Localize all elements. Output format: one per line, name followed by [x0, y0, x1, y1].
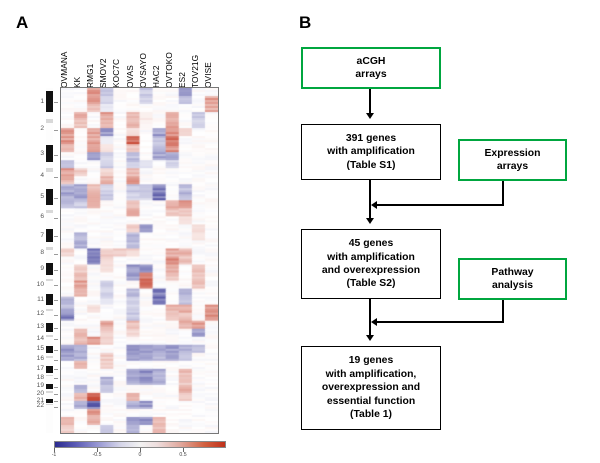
- chromosome-band-chr2: [46, 119, 53, 123]
- chromosome-band-chr12: [46, 309, 53, 311]
- chromosome-band-chr15: [46, 346, 53, 354]
- heatmap-row-tick-chr1: [54, 102, 58, 103]
- chromosome-band-chr20: [46, 391, 53, 392]
- heatmap-row-labels: 12345678910111213141516171819202122: [22, 88, 44, 433]
- heatmap-column-label-ovmana: OVMANA: [59, 51, 69, 88]
- heatmap-row-label-chr8: 8: [40, 250, 44, 257]
- heatmap-row-tick-chr11: [54, 300, 58, 301]
- colorbar-tick-label-3: 0.5: [179, 452, 186, 458]
- arrowhead-expression-into-spine: [371, 201, 377, 209]
- heatmap-column-labels: OVMANAKKRMG1SMOV2KOC7COVASOVSAYOHAC2OVTO…: [61, 24, 219, 88]
- chromosome-band-chr6: [46, 210, 53, 213]
- flow-node-pathway-analysis: Pathwayanalysis: [458, 258, 567, 300]
- arrowhead-pathway-into-spine: [371, 318, 377, 326]
- heatmap-column-label-ovise: OVISE: [203, 62, 213, 88]
- heatmap-column-label-rmg1: RMG1: [85, 64, 95, 88]
- heatmap-row-tick-chr17: [54, 369, 58, 370]
- chromosome-band-chr3: [46, 145, 53, 162]
- heatmap-row-label-chr4: 4: [40, 173, 44, 180]
- heatmap-row-label-chr22: 22: [37, 403, 44, 410]
- flow-node-acgh-arrays-label: aCGHarrays: [355, 55, 386, 82]
- heatmap-row-tick-chr12: [54, 315, 58, 316]
- chromosome-band-chr14: [46, 335, 53, 337]
- colorbar-tick-label-0: -1: [52, 452, 57, 458]
- chromosome-band-chr17: [46, 366, 53, 373]
- heatmap-row-tick-chr19: [54, 387, 58, 388]
- flow-node-expression-arrays-label: Expressionarrays: [484, 147, 540, 174]
- connector-acgh-to-391: [369, 89, 371, 115]
- heatmap-row-tick-chr13: [54, 328, 58, 329]
- heatmap-row-ticks: [54, 88, 59, 433]
- heatmap-row-tick-chr22: [54, 407, 58, 408]
- heatmap-row-tick-chr2: [54, 130, 58, 131]
- connector-pathway-down: [502, 300, 504, 322]
- heatmap-row-tick-chr7: [54, 236, 58, 237]
- panel-label-b: B: [299, 14, 311, 31]
- arrowhead-45-to-19: [366, 335, 374, 341]
- chromosome-band-chr5: [46, 189, 53, 204]
- connector-45-to-19: [369, 299, 371, 337]
- connector-391-to-45: [369, 180, 371, 220]
- flow-node-19-genes-label: 19 geneswith amplification,overexpressio…: [322, 354, 420, 421]
- chromosome-band-chr19: [46, 384, 53, 390]
- flow-node-19-genes: 19 geneswith amplification,overexpressio…: [301, 346, 441, 430]
- heatmap-colorbar: -1-0.500.5: [54, 441, 226, 461]
- heatmap-row-label-chr15: 15: [37, 346, 44, 353]
- flow-node-391-genes-label: 391 geneswith amplification(Table S1): [327, 132, 415, 172]
- chromosome-band-chr9: [46, 263, 53, 274]
- connector-expression-left: [377, 204, 504, 206]
- heatmap-row-label-chr2: 2: [40, 126, 44, 133]
- chromosome-band-chr10: [46, 279, 53, 281]
- colorbar-gradient: [54, 441, 226, 448]
- flow-node-expression-arrays: Expressionarrays: [458, 139, 567, 181]
- heatmap-column-label-ovas: OVAS: [125, 65, 135, 88]
- heatmap-row-label-chr16: 16: [37, 356, 44, 363]
- panel-label-a: A: [16, 14, 28, 31]
- chromosome-band-chr21: [46, 399, 53, 403]
- heatmap-row-tick-chr6: [54, 218, 58, 219]
- heatmap-column-label-ovsayo: OVSAYO: [138, 53, 148, 88]
- heatmap-column-label-ovtoko: OVTOKO: [164, 52, 174, 88]
- heatmap-row-tick-chr5: [54, 198, 58, 199]
- heatmap-row-tick-chr15: [54, 350, 58, 351]
- panel-a-heatmap: A OVMANAKKRMG1SMOV2KOC7COVASOVSAYOHAC2OV…: [0, 0, 290, 463]
- heatmap-row-tick-chr10: [54, 285, 58, 286]
- heatmap-row-label-chr13: 13: [37, 324, 44, 331]
- connector-pathway-left: [377, 321, 504, 323]
- heatmap-canvas: [61, 88, 218, 433]
- heatmap-row-label-chr9: 9: [40, 266, 44, 273]
- flow-node-acgh-arrays: aCGHarrays: [301, 47, 441, 89]
- heatmap-row-label-chr10: 10: [37, 282, 44, 289]
- heatmap-row-label-chr18: 18: [37, 375, 44, 382]
- flow-node-391-genes: 391 geneswith amplification(Table S1): [301, 124, 441, 180]
- colorbar-tick-label-1: -0.5: [93, 452, 102, 458]
- connector-expression-down: [502, 181, 504, 205]
- chromosome-band-chr4: [46, 168, 53, 171]
- chromosome-band-chr22: [46, 404, 53, 405]
- heatmap-column-label-tov21g: TOV21G: [190, 55, 200, 88]
- flow-node-pathway-analysis-label: Pathwayanalysis: [491, 266, 533, 293]
- heatmap-row-tick-chr3: [54, 155, 58, 156]
- heatmap-plot-area: [60, 87, 219, 434]
- heatmap-row-label-chr17: 17: [37, 366, 44, 373]
- heatmap-column-label-es2: ES2: [177, 72, 187, 88]
- heatmap-row-tick-chr20: [54, 394, 58, 395]
- heatmap-row-label-chr6: 6: [40, 214, 44, 221]
- heatmap-row-tick-chr4: [54, 177, 58, 178]
- flow-node-45-genes: 45 geneswith amplificationand overexpres…: [301, 229, 441, 299]
- heatmap-row-tick-chr14: [54, 339, 58, 340]
- flow-node-45-genes-label: 45 geneswith amplificationand overexpres…: [322, 237, 420, 291]
- chromosome-band-chr16: [46, 356, 53, 358]
- chromosome-band-chr13: [46, 323, 53, 332]
- chromosome-band-chr11: [46, 294, 53, 305]
- heatmap-column-label-hac2: HAC2: [151, 65, 161, 88]
- chromosome-band-chr7: [46, 229, 53, 242]
- heatmap-column-label-smov2: SMOV2: [98, 58, 108, 88]
- heatmap-row-label-chr14: 14: [37, 336, 44, 343]
- heatmap-row-tick-chr18: [54, 378, 58, 379]
- heatmap-row-tick-chr9: [54, 270, 58, 271]
- heatmap-row-label-chr19: 19: [37, 383, 44, 390]
- heatmap-row-tick-chr21: [54, 401, 58, 402]
- heatmap-row-tick-chr16: [54, 360, 58, 361]
- chromosome-band-chr1: [46, 91, 53, 112]
- heatmap-row-label-chr5: 5: [40, 194, 44, 201]
- arrowhead-391-to-45: [366, 218, 374, 224]
- panel-b-flowchart: B aCGHarrays 391 geneswith amplification…: [290, 0, 600, 463]
- colorbar-tick-label-2: 0: [139, 452, 142, 458]
- heatmap-row-label-chr11: 11: [37, 297, 44, 304]
- heatmap-row-label-chr3: 3: [40, 151, 44, 158]
- chromosome-band-chr18: [46, 375, 53, 376]
- heatmap-column-label-koc7c: KOC7C: [111, 59, 121, 88]
- heatmap-row-label-chr12: 12: [37, 311, 44, 318]
- arrowhead-acgh-to-391: [366, 113, 374, 119]
- chromosome-band-chr8: [46, 247, 53, 250]
- heatmap-row-label-chr7: 7: [40, 233, 44, 240]
- chromosome-ideogram-bar: [46, 88, 53, 433]
- heatmap-row-label-chr1: 1: [40, 99, 44, 106]
- heatmap-row-tick-chr8: [54, 254, 58, 255]
